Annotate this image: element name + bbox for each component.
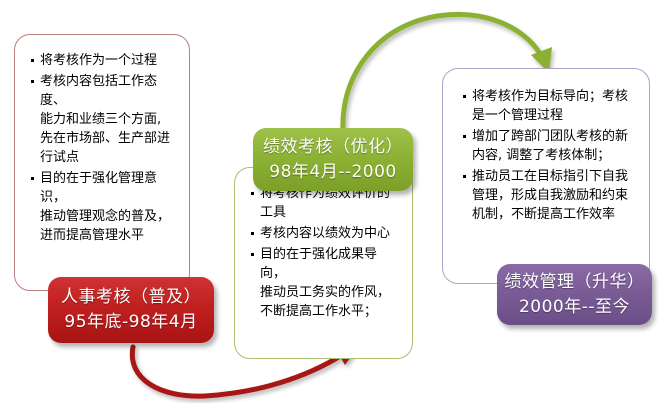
stage-3-bullet-2: 增加了跨部门团队考核的新 内容, 调整了考核体制； xyxy=(463,127,639,165)
stage-1-label[interactable]: 人事考核（普及） 95年底-98年4月 xyxy=(48,277,214,343)
stage-1-period: 95年底-98年4月 xyxy=(64,310,197,335)
stage-3-bullet-list: 将考核作为目标导向；考核 是一个管理过程 增加了跨部门团队考核的新 内容, 调整… xyxy=(443,69,649,236)
stage-2-name: 绩效考核（优化） xyxy=(263,135,403,160)
stage-3-name: 绩效管理（升华） xyxy=(505,270,645,295)
stage-1-bullet-2: 考核内容包括工作态度、 能力和业绩三个方面, 先在市场部、生产部进 行试点 xyxy=(31,72,179,167)
stage-2-bullet-3: 目的在于强化成果导向， 推动员工务实的作风， 不断提高工作水平； xyxy=(251,245,402,321)
stage-3-label[interactable]: 绩效管理（升华） 2000年--至今 xyxy=(497,264,652,325)
stage-2-detail-panel: 将考核作为绩效评价的 工具 考核内容以绩效为中心 目的在于强化成果导向， 推动员… xyxy=(234,167,413,359)
stage-1-bullet-3: 目的在于强化管理意识， 推动管理观念的普及， 进而提高管理水平 xyxy=(31,169,179,245)
stage-3-detail-panel: 将考核作为目标导向；考核 是一个管理过程 增加了跨部门团队考核的新 内容, 调整… xyxy=(442,68,650,284)
stage-2-bullet-list: 将考核作为绩效评价的 工具 考核内容以绩效为中心 目的在于强化成果导向， 推动员… xyxy=(235,168,412,333)
stage-1-bullet-1: 将考核作为一个过程 xyxy=(31,51,179,70)
stage-2-label[interactable]: 绩效考核（优化） 98年4月--2000 xyxy=(253,128,413,191)
stage-2-bullet-2: 考核内容以绩效为中心 xyxy=(251,224,402,243)
stage-1-bullet-list: 将考核作为一个过程 考核内容包括工作态度、 能力和业绩三个方面, 先在市场部、生… xyxy=(15,35,189,257)
stage-1-name: 人事考核（普及） xyxy=(61,285,201,310)
diagram-canvas: 将考核作为一个过程 考核内容包括工作态度、 能力和业绩三个方面, 先在市场部、生… xyxy=(0,0,662,403)
stage-3-bullet-1: 将考核作为目标导向；考核 是一个管理过程 xyxy=(463,87,639,125)
stage-2-period: 98年4月--2000 xyxy=(269,160,396,185)
stage-3-bullet-3: 推动员工在目标指引下自我 管理，形成自我激励和约束 机制，不断提高工作效率 xyxy=(463,167,639,224)
stage-1-detail-panel: 将考核作为一个过程 考核内容包括工作态度、 能力和业绩三个方面, 先在市场部、生… xyxy=(14,34,190,291)
stage-3-period: 2000年--至今 xyxy=(519,295,630,320)
